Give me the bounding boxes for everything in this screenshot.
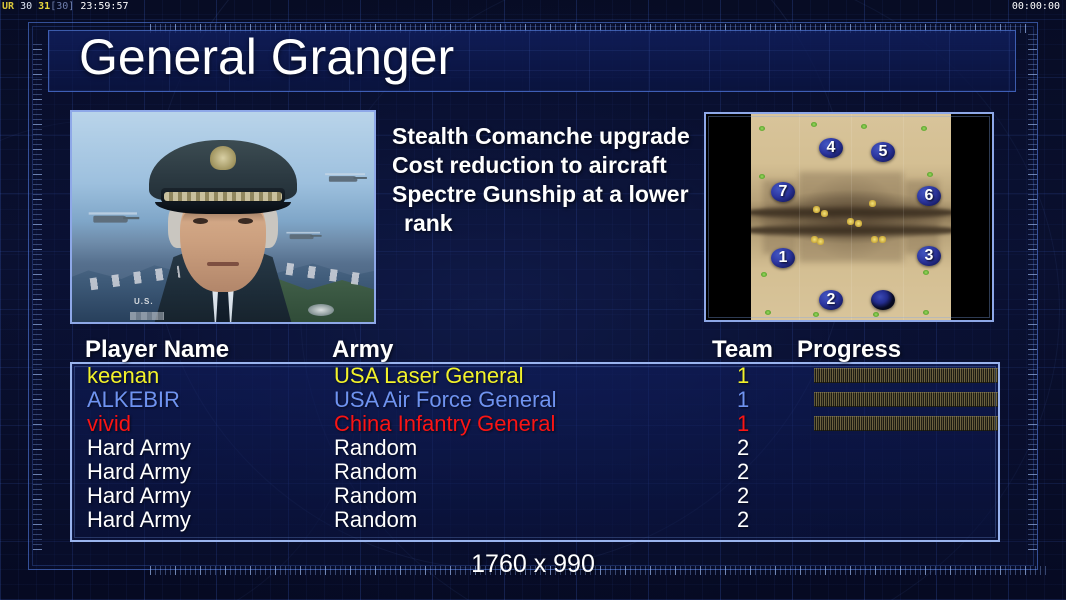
cell-player-name: ALKEBIR <box>87 388 180 412</box>
cap-eagle-emblem-icon <box>210 146 236 170</box>
mouth <box>207 262 239 266</box>
table-row[interactable]: keenanUSA Laser General1 <box>87 364 992 388</box>
cell-team: 2 <box>737 508 749 532</box>
cell-army: Random <box>334 508 417 532</box>
cell-player-name: vivid <box>87 412 131 436</box>
ability-line: Stealth Comanche upgrade <box>392 122 722 151</box>
ability-line: Cost reduction to aircraft <box>392 151 722 180</box>
ur-value-2: 31 <box>38 1 50 12</box>
cell-player-name: Hard Army <box>87 460 191 484</box>
progress-bar <box>814 392 1000 407</box>
general-info-region: U.S. Stealth Comanche upgrade Cost reduc… <box>70 110 994 326</box>
cell-player-name: keenan <box>87 364 159 388</box>
minimap-image: 4576132 <box>751 114 951 320</box>
minimap-start-position-1[interactable]: 1 <box>771 248 795 268</box>
minimap-divider <box>851 114 852 320</box>
table-row[interactable]: Hard ArmyRandom2 <box>87 484 992 508</box>
minimap-start-position-2[interactable]: 2 <box>819 290 843 310</box>
page-title: General Granger <box>79 30 454 86</box>
eye-left <box>193 218 208 224</box>
us-insignia-label: U.S. <box>134 297 154 306</box>
general-abilities-list: Stealth Comanche upgrade Cost reduction … <box>392 122 722 238</box>
top-status-bar: UR 30 31[30] 23:59:57 00:00:00 <box>0 0 1066 14</box>
minimap-start-position-empty[interactable] <box>871 290 895 310</box>
cell-army: USA Laser General <box>334 364 524 388</box>
service-ribbons-icon <box>130 312 164 320</box>
game-timer: 00:00:00 <box>1012 0 1060 14</box>
table-row[interactable]: Hard ArmyRandom2 <box>87 436 992 460</box>
cell-team: 1 <box>737 412 749 436</box>
cell-player-name: Hard Army <box>87 484 191 508</box>
cell-player-name: Hard Army <box>87 508 191 532</box>
minimap-start-position-6[interactable]: 6 <box>917 186 941 206</box>
progress-bar <box>814 416 1000 431</box>
resolution-label: 1760 x 990 <box>0 550 1066 579</box>
cell-team: 2 <box>737 436 749 460</box>
cell-army: Random <box>334 436 417 460</box>
cell-army: Random <box>334 484 417 508</box>
minimap-start-position-7[interactable]: 7 <box>771 182 795 202</box>
eye-right <box>238 218 253 224</box>
cell-team: 2 <box>737 460 749 484</box>
column-header-team: Team <box>712 336 773 364</box>
column-header-player-name: Player Name <box>85 336 229 364</box>
cell-player-name: Hard Army <box>87 436 191 460</box>
player-table-header: Player Name Army Team Progress <box>85 336 985 364</box>
cell-army: USA Air Force General <box>334 388 557 412</box>
title-panel: General Granger <box>48 30 1016 92</box>
cell-team: 1 <box>737 364 749 388</box>
minimap-start-position-5[interactable]: 5 <box>871 142 895 162</box>
cap-oak-leaf-braid <box>164 192 282 201</box>
player-table-rows: keenanUSA Laser General1ALKEBIRUSA Air F… <box>87 364 992 532</box>
cell-army: China Infantry General <box>334 412 555 436</box>
ability-line: Spectre Gunship at a lower rank <box>392 180 722 238</box>
system-clock: 23:59:57 <box>80 1 128 12</box>
minimap-frame[interactable]: 4576132 <box>704 112 994 322</box>
table-row[interactable]: Hard ArmyRandom2 <box>87 508 992 532</box>
ur-value-1: 30 <box>20 1 32 12</box>
cell-army: Random <box>334 460 417 484</box>
minimap-divider <box>799 114 800 320</box>
table-row[interactable]: vividChina Infantry General1 <box>87 412 992 436</box>
table-row[interactable]: Hard ArmyRandom2 <box>87 460 992 484</box>
game-lobby-screen: UR 30 31[30] 23:59:57 00:00:00 General G… <box>0 0 1066 600</box>
wings-badge-icon <box>308 304 334 316</box>
minimap-start-position-4[interactable]: 4 <box>819 138 843 158</box>
cell-team: 1 <box>737 388 749 412</box>
minimap-start-position-3[interactable]: 3 <box>917 246 941 266</box>
column-header-progress: Progress <box>797 336 901 364</box>
officer-figure <box>108 112 338 322</box>
general-portrait-image: U.S. <box>72 112 374 322</box>
minimap-divider <box>903 114 904 320</box>
table-row[interactable]: ALKEBIRUSA Air Force General1 <box>87 388 992 412</box>
ur-label: UR <box>2 1 14 12</box>
portrait-frame: U.S. <box>70 110 376 324</box>
progress-bar <box>814 368 1000 383</box>
player-table: keenanUSA Laser General1ALKEBIRUSA Air F… <box>70 362 1000 542</box>
column-header-army: Army <box>332 336 393 364</box>
status-left-group: UR 30 31[30] 23:59:57 <box>2 0 129 14</box>
ur-value-3: [30] <box>50 1 74 12</box>
cell-team: 2 <box>737 484 749 508</box>
